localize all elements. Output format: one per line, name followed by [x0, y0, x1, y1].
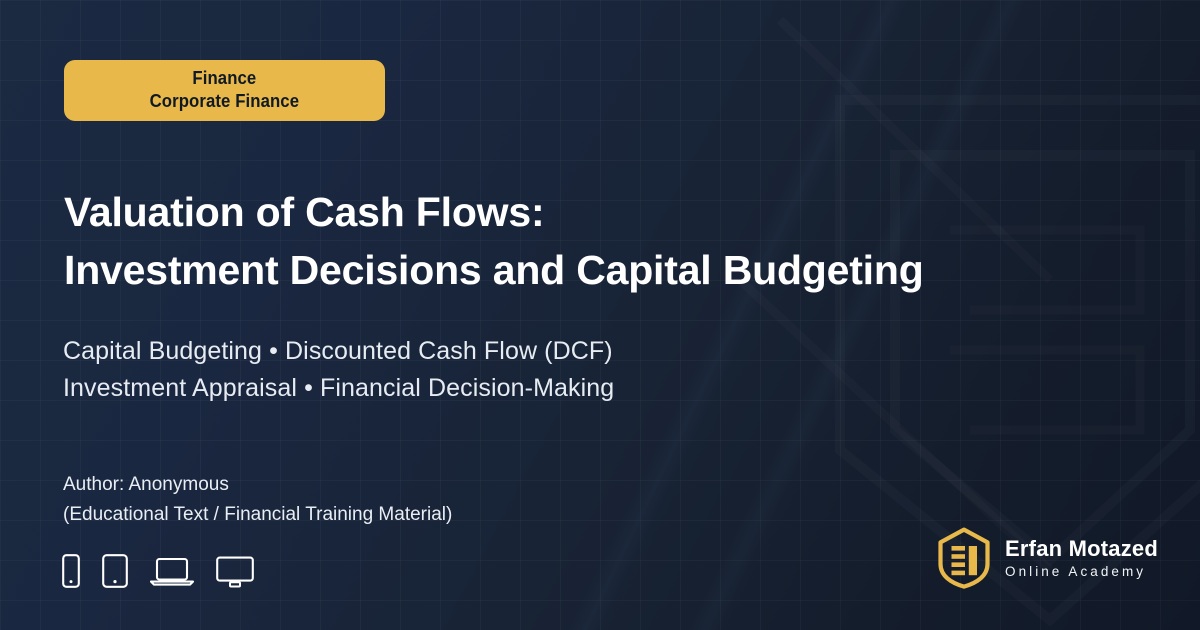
desktop-monitor-icon [216, 556, 254, 588]
brand-text-block: Erfan Motazed Online Academy [1005, 535, 1158, 581]
laptop-icon [150, 556, 194, 588]
author-material-type: (Educational Text / Financial Training M… [63, 500, 452, 530]
brand-tagline: Online Academy [1005, 562, 1158, 581]
badge-category-secondary: Corporate Finance [150, 90, 299, 113]
cover-canvas: Finance Corporate Finance Valuation of C… [0, 0, 1200, 630]
brand-logo: Erfan Motazed Online Academy [937, 527, 1158, 589]
author-block: Author: Anonymous (Educational Text / Fi… [63, 470, 452, 530]
shield-logo-icon [937, 527, 991, 589]
author-name: Author: Anonymous [63, 470, 452, 500]
page-title: Valuation of Cash Flows: Investment Deci… [64, 183, 1134, 299]
device-compatibility-strip [62, 546, 254, 588]
tablet-icon [102, 554, 128, 588]
title-line-1: Valuation of Cash Flows: [64, 183, 1134, 241]
badge-category-primary: Finance [193, 67, 257, 90]
mobile-phone-icon [62, 554, 80, 588]
subtitle-line-1: Capital Budgeting • Discounted Cash Flow… [63, 333, 614, 370]
title-line-2: Investment Decisions and Capital Budgeti… [64, 241, 1134, 299]
subtitle-keywords: Capital Budgeting • Discounted Cash Flow… [63, 333, 614, 407]
brand-name: Erfan Motazed [1005, 535, 1158, 562]
category-badge: Finance Corporate Finance [64, 60, 385, 121]
subtitle-line-2: Investment Appraisal • Financial Decisio… [63, 370, 614, 407]
